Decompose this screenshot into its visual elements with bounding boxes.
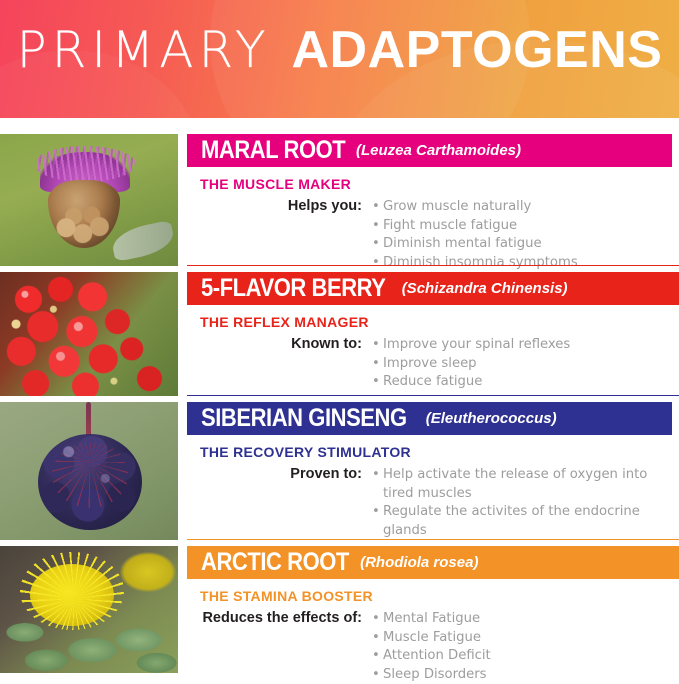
plant-photo-maral-root [0, 134, 178, 266]
section-banner-siberian-ginseng: SIBERIAN GINSENG(Eleutherococcus) [187, 402, 672, 435]
plant-image-yellow-flower [0, 546, 178, 673]
section-maral-root: MARAL ROOT(Leuzea Carthamoides) THE MUSC… [0, 134, 679, 266]
section-tagline: THE RECOVERY STIMULATOR [200, 444, 411, 460]
plant-photo-arctic-root [0, 546, 178, 673]
section-name: MARAL ROOT [201, 134, 345, 167]
section-arctic-root: ARCTIC ROOT(Rhodiola rosea) THE STAMINA … [0, 546, 679, 673]
root-bulb-shape [48, 180, 120, 248]
section-divider [187, 539, 679, 540]
plant-image-purple-berries [0, 402, 178, 540]
section-name: 5-FLAVOR BERRY [201, 272, 386, 305]
page-title-bold: ADAPTOGENS [292, 21, 663, 79]
plant-image-red-berries [0, 272, 178, 396]
list-item: Improve your spinal reflexes [372, 336, 672, 355]
section-tagline: THE MUSCLE MAKER [200, 176, 351, 192]
section-tagline: THE STAMINA BOOSTER [200, 588, 373, 604]
section-banner-five-flavor-berry: 5-FLAVOR BERRY(Schizandra Chinensis) [187, 272, 679, 305]
leaf-shape [110, 220, 177, 262]
flower-bloom-shape [30, 564, 114, 626]
section-lead-label: Helps you: [187, 198, 362, 214]
section-siberian-ginseng: SIBERIAN GINSENG(Eleutherococcus) THE RE… [0, 402, 679, 540]
section-name: ARCTIC ROOT [201, 546, 349, 579]
section-latin-name: (Leuzea Carthamoides) [356, 142, 521, 159]
benefit-list: Grow muscle naturally Fight muscle fatig… [372, 198, 672, 272]
benefit-list: Improve your spinal reflexes Improve sle… [372, 336, 672, 392]
section-name: SIBERIAN GINSENG [201, 402, 407, 435]
list-item: Attention Deficit [372, 647, 672, 666]
page-header: PRIMARY ADAPTOGENS [0, 0, 679, 118]
berry-highlights [0, 272, 178, 396]
list-item: Sleep Disorders [372, 666, 672, 684]
plant-photo-siberian-ginseng [0, 402, 178, 540]
plant-photo-five-flavor-berry [0, 272, 178, 396]
list-item: Improve sleep [372, 355, 672, 374]
section-lead-label: Proven to: [187, 466, 362, 482]
section-latin-name: (Eleutherococcus) [426, 410, 557, 427]
section-latin-name: (Schizandra Chinensis) [402, 280, 568, 297]
list-item: Grow muscle naturally [372, 198, 672, 217]
section-divider [187, 395, 679, 396]
section-lead-label: Reduces the effects of: [187, 610, 362, 626]
list-item: Fight muscle fatigue [372, 217, 672, 236]
section-five-flavor-berry: 5-FLAVOR BERRY(Schizandra Chinensis) THE… [0, 272, 679, 396]
list-item: Regulate the activites of the endocrine … [372, 503, 662, 540]
page-title-light: PRIMARY [17, 21, 271, 79]
berry-highlights [38, 434, 140, 508]
section-tagline: THE REFLEX MANAGER [200, 314, 369, 330]
benefit-list: Help activate the release of oxygen into… [372, 466, 662, 540]
list-item: Diminish mental fatigue [372, 235, 672, 254]
list-item: Reduce fatigue [372, 373, 672, 392]
section-banner-maral-root: MARAL ROOT(Leuzea Carthamoides) [187, 134, 672, 167]
secondary-bloom-shape [120, 552, 176, 592]
section-divider [187, 265, 679, 266]
section-latin-name: (Rhodiola rosea) [360, 554, 478, 571]
list-item: Diminish insomnia symptoms [372, 254, 672, 273]
section-banner-arctic-root: ARCTIC ROOT(Rhodiola rosea) [187, 546, 679, 579]
list-item: Muscle Fatigue [372, 629, 672, 648]
list-item: Help activate the release of oxygen into… [372, 466, 662, 503]
section-lead-label: Known to: [187, 336, 362, 352]
page-title: PRIMARY ADAPTOGENS [0, 24, 679, 76]
list-item: Mental Fatigue [372, 610, 672, 629]
plant-image-thistle [0, 134, 178, 266]
